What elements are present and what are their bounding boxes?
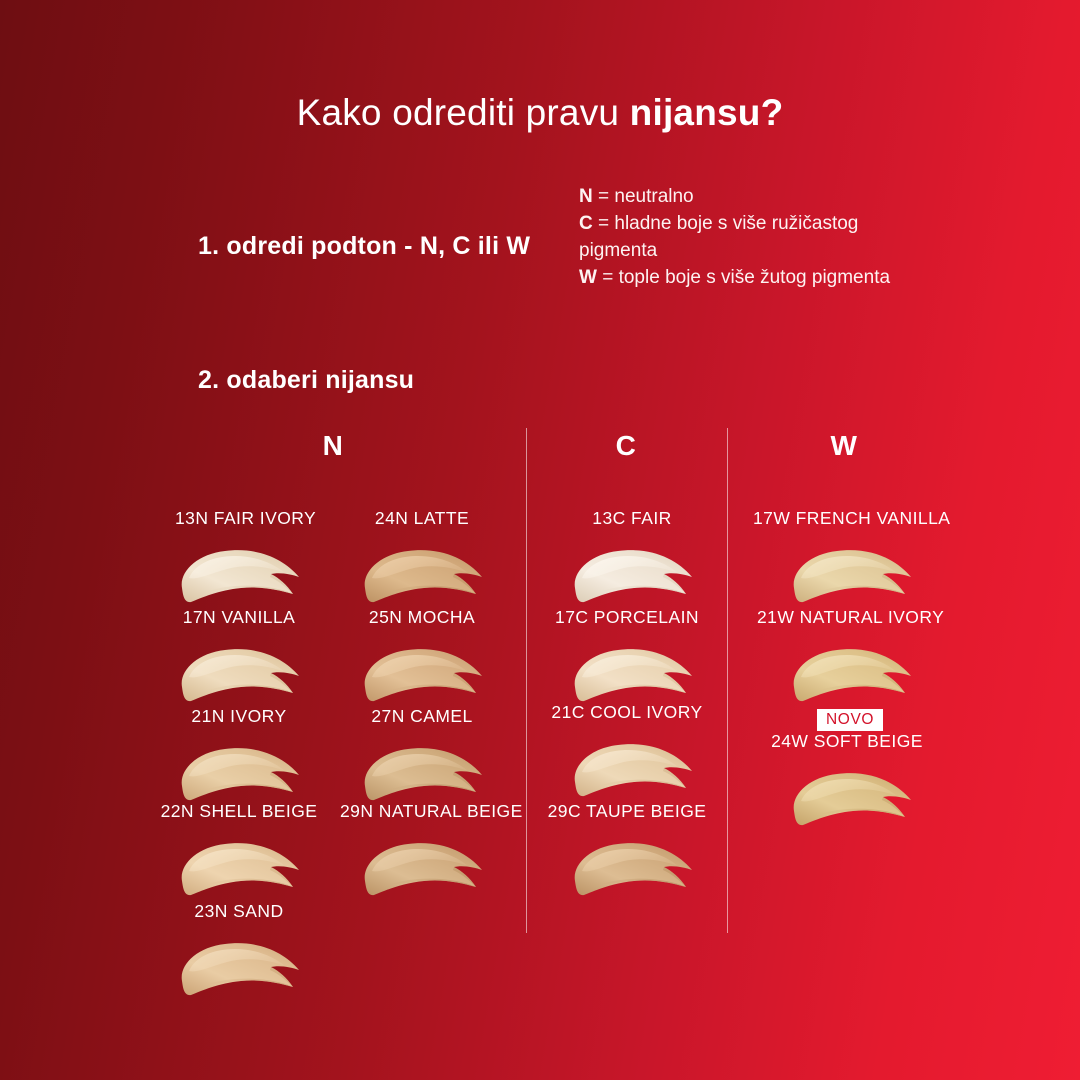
column-header-c: C bbox=[546, 430, 706, 462]
shade-swatch bbox=[358, 827, 486, 901]
shade-swatch bbox=[568, 728, 696, 802]
shade-item: 24W SOFT BEIGE bbox=[762, 733, 932, 751]
shade-item: 13N FAIR IVORY bbox=[175, 510, 303, 528]
shade-item: 27N CAMEL bbox=[358, 708, 486, 726]
shade-item: 21N IVORY bbox=[175, 708, 303, 726]
shade-swatch bbox=[787, 534, 915, 608]
swatch-shape bbox=[358, 544, 486, 608]
shade-swatch bbox=[568, 534, 696, 608]
swatch-shape bbox=[175, 837, 303, 901]
column-divider-n-c bbox=[526, 428, 527, 933]
shade-swatch bbox=[175, 633, 303, 707]
shade-item: 29C TAUPE BEIGE bbox=[544, 803, 710, 821]
swatch-shape bbox=[175, 544, 303, 608]
poster-root: Kako odrediti pravu nijansu? 1. odredi p… bbox=[0, 0, 1080, 1080]
shade-item: 22N SHELL BEIGE bbox=[160, 803, 318, 821]
shade-swatch bbox=[175, 927, 303, 1001]
shade-item: 17W FRENCH VANILLA bbox=[753, 510, 943, 528]
shade-label: 23N SAND bbox=[175, 903, 303, 921]
column-header-w: W bbox=[764, 430, 924, 462]
shade-swatch bbox=[568, 633, 696, 707]
shade-swatch bbox=[358, 732, 486, 806]
shade-item: 29N NATURAL BEIGE bbox=[340, 803, 502, 821]
shade-item: 13C FAIR bbox=[568, 510, 696, 528]
shade-item: 21W NATURAL IVORY bbox=[757, 609, 939, 627]
swatch-shape bbox=[358, 837, 486, 901]
shade-label: 17W FRENCH VANILLA bbox=[753, 510, 943, 528]
shade-label: 25N MOCHA bbox=[358, 609, 486, 627]
shade-label: 29N NATURAL BEIGE bbox=[340, 803, 502, 821]
swatch-shape bbox=[787, 544, 915, 608]
shade-label: 17C PORCELAIN bbox=[547, 609, 707, 627]
shade-swatch bbox=[568, 827, 696, 901]
novo-badge: NOVO bbox=[817, 709, 883, 731]
shade-label: 24W SOFT BEIGE bbox=[762, 733, 932, 751]
shade-swatch bbox=[175, 732, 303, 806]
swatch-shape bbox=[175, 937, 303, 1001]
shade-label: 27N CAMEL bbox=[358, 708, 486, 726]
shade-item: 17N VANILLA bbox=[175, 609, 303, 627]
shade-item: 23N SAND bbox=[175, 903, 303, 921]
shade-swatch bbox=[787, 633, 915, 707]
column-header-n: N bbox=[253, 430, 413, 462]
shade-item: 17C PORCELAIN bbox=[547, 609, 707, 627]
column-divider-c-w bbox=[727, 428, 728, 933]
shade-label: 13C FAIR bbox=[568, 510, 696, 528]
shade-label: 24N LATTE bbox=[358, 510, 486, 528]
shade-label: 21W NATURAL IVORY bbox=[757, 609, 939, 627]
shade-swatch bbox=[358, 534, 486, 608]
swatch-shape bbox=[358, 742, 486, 806]
shade-label: 17N VANILLA bbox=[175, 609, 303, 627]
shade-item: 24N LATTE bbox=[358, 510, 486, 528]
shade-item: 21C COOL IVORY bbox=[544, 704, 710, 722]
swatch-shape bbox=[787, 767, 915, 831]
shade-item: 25N MOCHA bbox=[358, 609, 486, 627]
shade-label: 21N IVORY bbox=[175, 708, 303, 726]
swatch-shape bbox=[787, 643, 915, 707]
shade-swatch bbox=[787, 757, 915, 831]
swatch-shape bbox=[175, 643, 303, 707]
shade-grid: N C W 13N FAIR IVORY bbox=[0, 0, 1080, 1080]
shade-label: 29C TAUPE BEIGE bbox=[544, 803, 710, 821]
shade-swatch bbox=[358, 633, 486, 707]
swatch-shape bbox=[568, 837, 696, 901]
shade-label: 22N SHELL BEIGE bbox=[160, 803, 318, 821]
shade-label: 21C COOL IVORY bbox=[544, 704, 710, 722]
shade-swatch bbox=[175, 827, 303, 901]
shade-label: 13N FAIR IVORY bbox=[175, 510, 303, 528]
swatch-shape bbox=[568, 643, 696, 707]
swatch-shape bbox=[358, 643, 486, 707]
swatch-shape bbox=[175, 742, 303, 806]
swatch-shape bbox=[568, 544, 696, 608]
swatch-shape bbox=[568, 738, 696, 802]
shade-swatch bbox=[175, 534, 303, 608]
